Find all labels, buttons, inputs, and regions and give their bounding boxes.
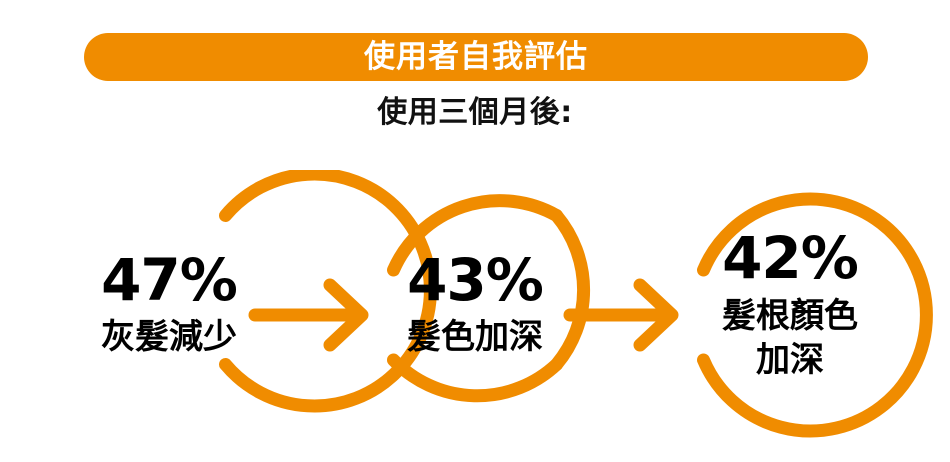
infographic-root: 使用者自我評估 使用三個月後: 47% 灰髮減少 [0,0,950,462]
step-2-group: 43% 髮色加深 [394,201,584,396]
flow-diagram: 47% 灰髮減少 43% 髮色加深 [0,170,950,440]
step-1-label-line1: 灰髮減少 [101,317,237,357]
step-3-group: 42% 髮根顏色 加深 [704,199,927,431]
subtitle-text: 使用三個月後: [0,95,950,131]
step-2-label-line1: 髮色加深 [407,317,543,357]
step-2-percent: 43% [407,246,543,314]
step-2-ring-lower-left [394,360,557,396]
step-2-ring-right [557,216,584,365]
banner-title-text: 使用者自我評估 [364,42,588,73]
arrow-1-group [255,285,362,345]
step-1-group: 47% 灰髮減少 [101,174,430,406]
step-1-percent: 47% [101,246,237,314]
flow-diagram-svg: 47% 灰髮減少 43% 髮色加深 [0,170,950,440]
step-3-label-line1: 髮根顏色 [722,296,858,336]
step-3-percent: 42% [722,224,858,292]
step-3-label-line2: 加深 [756,340,824,380]
title-banner: 使用者自我評估 [84,33,868,81]
